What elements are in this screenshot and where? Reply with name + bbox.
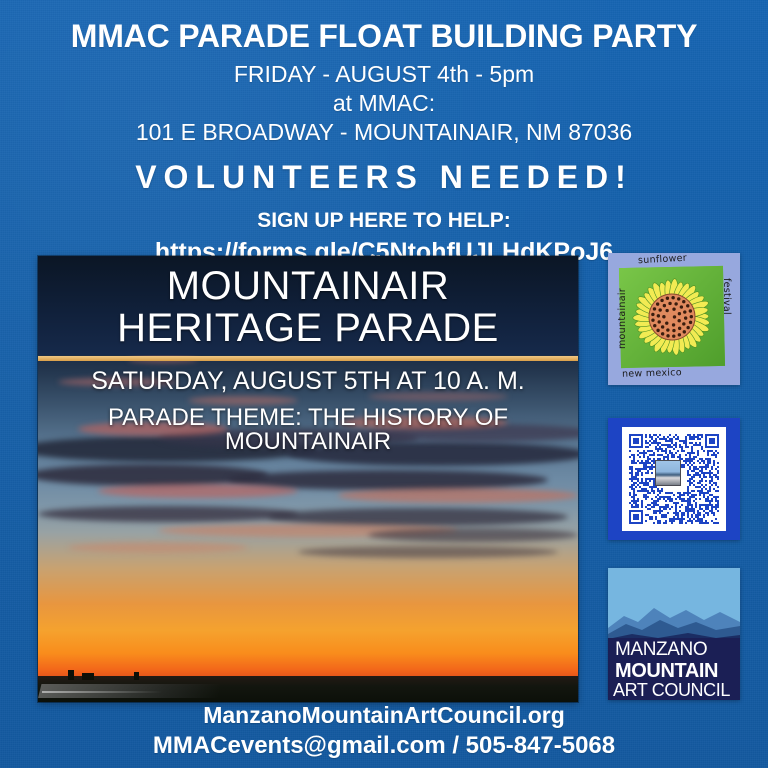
sunflower-word-top: sunflower: [638, 253, 688, 267]
signup-label: SIGN UP HERE TO HELP:: [0, 210, 768, 231]
parade-title-line-2: HERITAGE PARADE: [38, 308, 578, 348]
sunflower-icon: [619, 266, 725, 368]
sunflower-artwork: [619, 266, 725, 368]
poster-footer: ManzanoMountainArtCouncil.org MMACevents…: [0, 703, 768, 760]
poster-header: MMAC PARADE FLOAT BUILDING PARTY FRIDAY …: [0, 0, 768, 265]
road-center-line: [42, 691, 162, 693]
sunflower-word-right: festival: [721, 278, 732, 315]
volunteers-needed-headline: VOLUNTEERS NEEDED!: [0, 161, 768, 193]
parade-flyer-image: MOUNTAINAIR HERITAGE PARADE SATURDAY, AU…: [38, 256, 578, 702]
sunflower-festival-logo: sunflower new mexico mountainair festiva…: [608, 253, 740, 385]
qr-code-tile[interactable]: [608, 418, 740, 540]
logo-line-mountain: MOUNTAIN: [615, 661, 740, 681]
email-and-phone[interactable]: MMACevents@gmail.com / 505-847-5068: [0, 733, 768, 760]
logo-line-manzano: MANZANO: [615, 640, 740, 659]
mountain-range-icon: [608, 598, 740, 642]
venue-label: at MMAC:: [0, 91, 768, 117]
barn-icon: [82, 673, 94, 680]
logo-line-art-council: ART COUNCIL: [613, 681, 740, 699]
event-day-time: FRIDAY - AUGUST 4th - 5pm: [0, 62, 768, 88]
parade-title-line-1: MOUNTAINAIR: [38, 266, 578, 306]
sunflower-word-left: mountainair: [617, 288, 628, 349]
sunflower-word-bottom: new mexico: [622, 367, 682, 380]
qr-center-photo: [655, 460, 681, 486]
tree-icon: [134, 672, 139, 680]
event-poster: MMAC PARADE FLOAT BUILDING PARTY FRIDAY …: [0, 0, 768, 768]
venue-address: 101 E BROADWAY - MOUNTAINAIR, NM 87036: [0, 120, 768, 146]
parade-theme: PARADE THEME: THE HISTORY OF MOUNTAINAIR: [38, 406, 578, 454]
manzano-mountain-art-council-logo: MANZANO MOUNTAIN ART COUNCIL: [608, 568, 740, 700]
gold-divider-rule: [38, 356, 578, 361]
silo-icon: [68, 670, 74, 680]
website-link[interactable]: ManzanoMountainArtCouncil.org: [0, 703, 768, 729]
qr-code-paper[interactable]: [622, 427, 726, 531]
poster-title: MMAC PARADE FLOAT BUILDING PARTY: [0, 0, 768, 52]
parade-date-time: SATURDAY, AUGUST 5TH AT 10 A. M.: [38, 369, 578, 394]
